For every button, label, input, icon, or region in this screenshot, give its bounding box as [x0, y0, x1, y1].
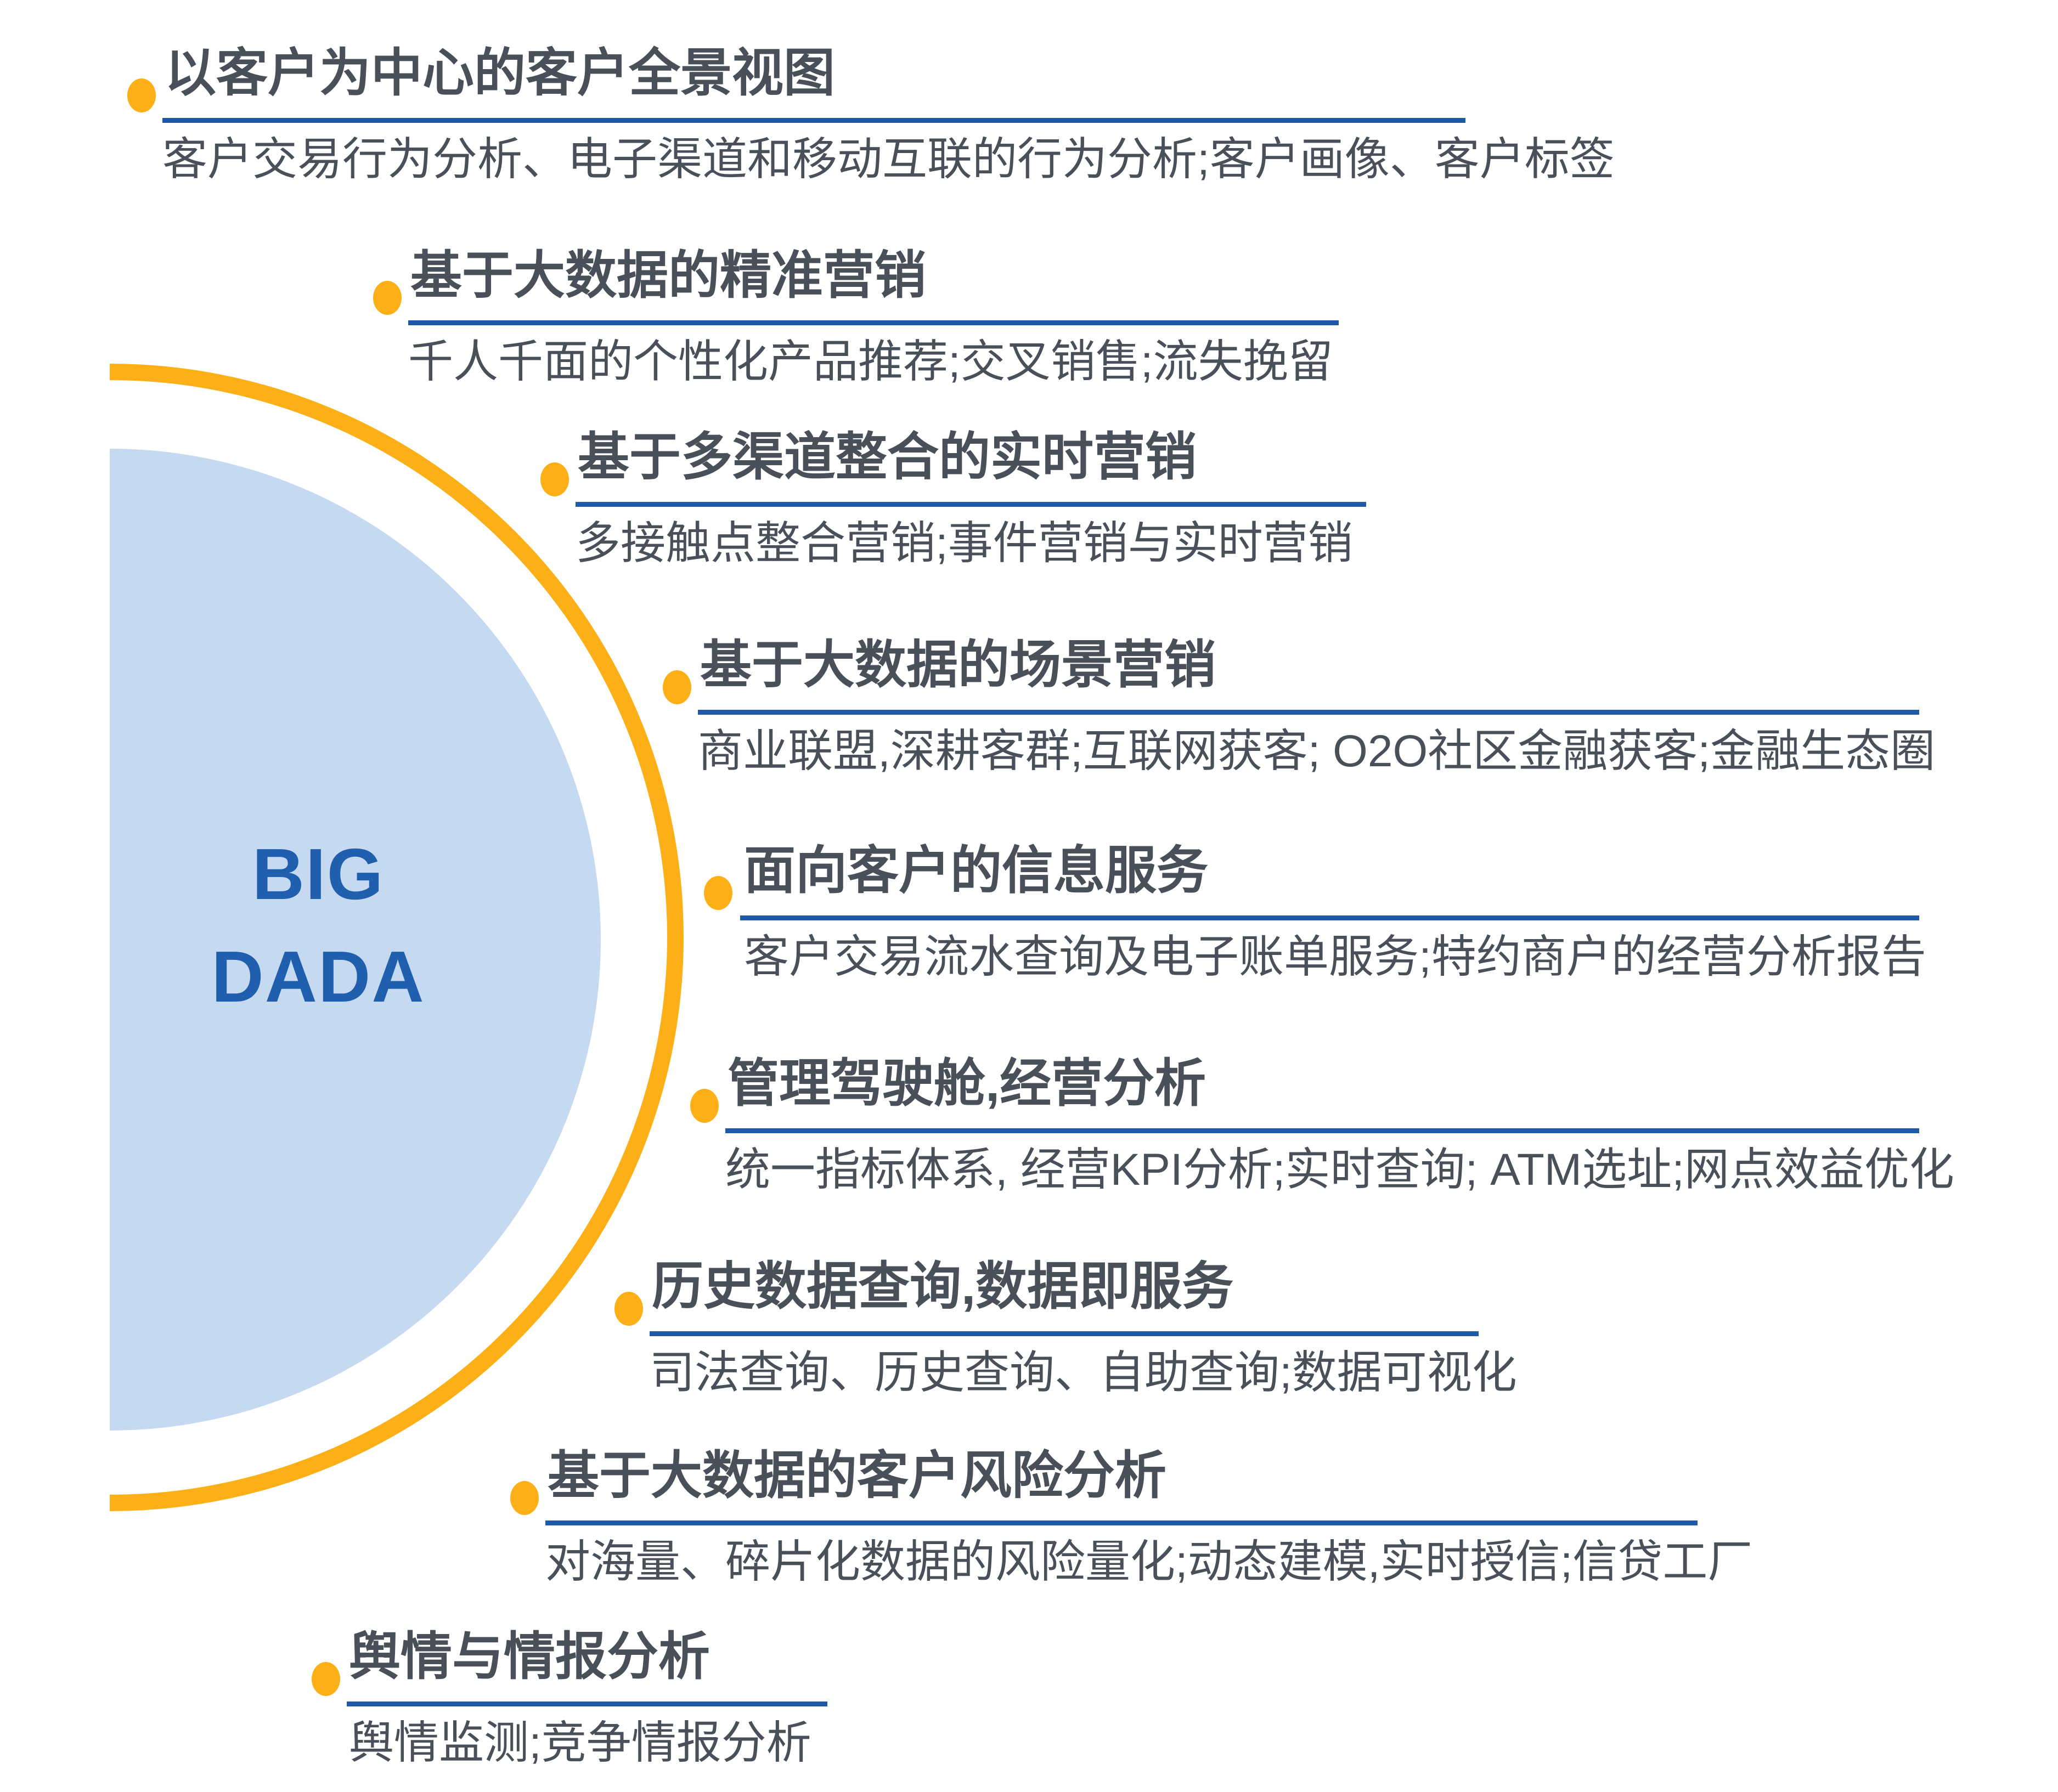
title-underline — [725, 1128, 1919, 1133]
title-underline — [740, 915, 1919, 920]
block-subtitle: 多接触点整合营销;事件营销与实时营销 — [576, 521, 1353, 566]
diagram-canvas: BIG DADA 以客户为中心的客户全景视图 客户交易行为分析、电子渠道和移动互… — [0, 0, 2058, 1792]
title-underline — [576, 502, 1366, 507]
block-subtitle: 千人千面的个性化产品推荐;交叉销售;流失挽留 — [408, 340, 1333, 385]
blue-semicircle — [110, 449, 601, 1431]
block-title: 以客户为中心的客户全景视图 — [165, 47, 835, 99]
block-title: 舆情与情报分析 — [349, 1631, 710, 1682]
title-underline — [347, 1701, 827, 1706]
block-subtitle: 客户交易行为分析、电子渠道和移动互联的行为分析;客户画像、客户标签 — [162, 137, 1615, 182]
block-title: 基于大数据的客户风险分析 — [548, 1450, 1166, 1501]
block-subtitle: 舆情监测;竞争情报分析 — [349, 1721, 811, 1766]
block-title: 面向客户的信息服务 — [744, 845, 1208, 896]
block-subtitle: 商业联盟,深耕客群;互联网获客; O2O社区金融获客;金融生态圈 — [698, 729, 1935, 774]
orange-bullet-icon — [704, 876, 732, 910]
block-title: 基于多渠道整合的实时营销 — [578, 431, 1197, 483]
orange-bullet-icon — [373, 281, 402, 315]
title-underline — [162, 118, 1465, 123]
block-subtitle: 司法查询、历史查询、自助查询;数据可视化 — [650, 1350, 1517, 1395]
orange-bullet-icon — [663, 670, 691, 704]
title-underline — [698, 710, 1919, 715]
block-title: 基于大数据的场景营销 — [700, 639, 1216, 691]
title-underline — [545, 1520, 1698, 1525]
orange-bullet-icon — [690, 1089, 719, 1123]
orange-bullet-icon — [510, 1481, 539, 1515]
block-subtitle: 对海量、碎片化数据的风险量化;动态建模,实时授信;信贷工厂 — [545, 1540, 1752, 1585]
block-title: 历史数据查询,数据即服务 — [652, 1260, 1233, 1312]
orange-bullet-icon — [614, 1292, 643, 1326]
block-subtitle: 客户交易流水查询及电子账单服务;特约商户的经营分析报告 — [744, 935, 1926, 980]
block-subtitle: 统一指标体系, 经营KPI分析;实时查询; ATM选址;网点效益优化 — [725, 1147, 1954, 1192]
block-title: 基于大数据的精准营销 — [410, 250, 926, 301]
title-underline — [650, 1331, 1479, 1336]
orange-bullet-icon — [127, 78, 156, 112]
orange-bullet-icon — [540, 462, 569, 496]
orange-bullet-icon — [312, 1662, 340, 1696]
title-underline — [408, 320, 1339, 325]
block-title: 管理驾驶舱,经营分析 — [728, 1058, 1206, 1109]
